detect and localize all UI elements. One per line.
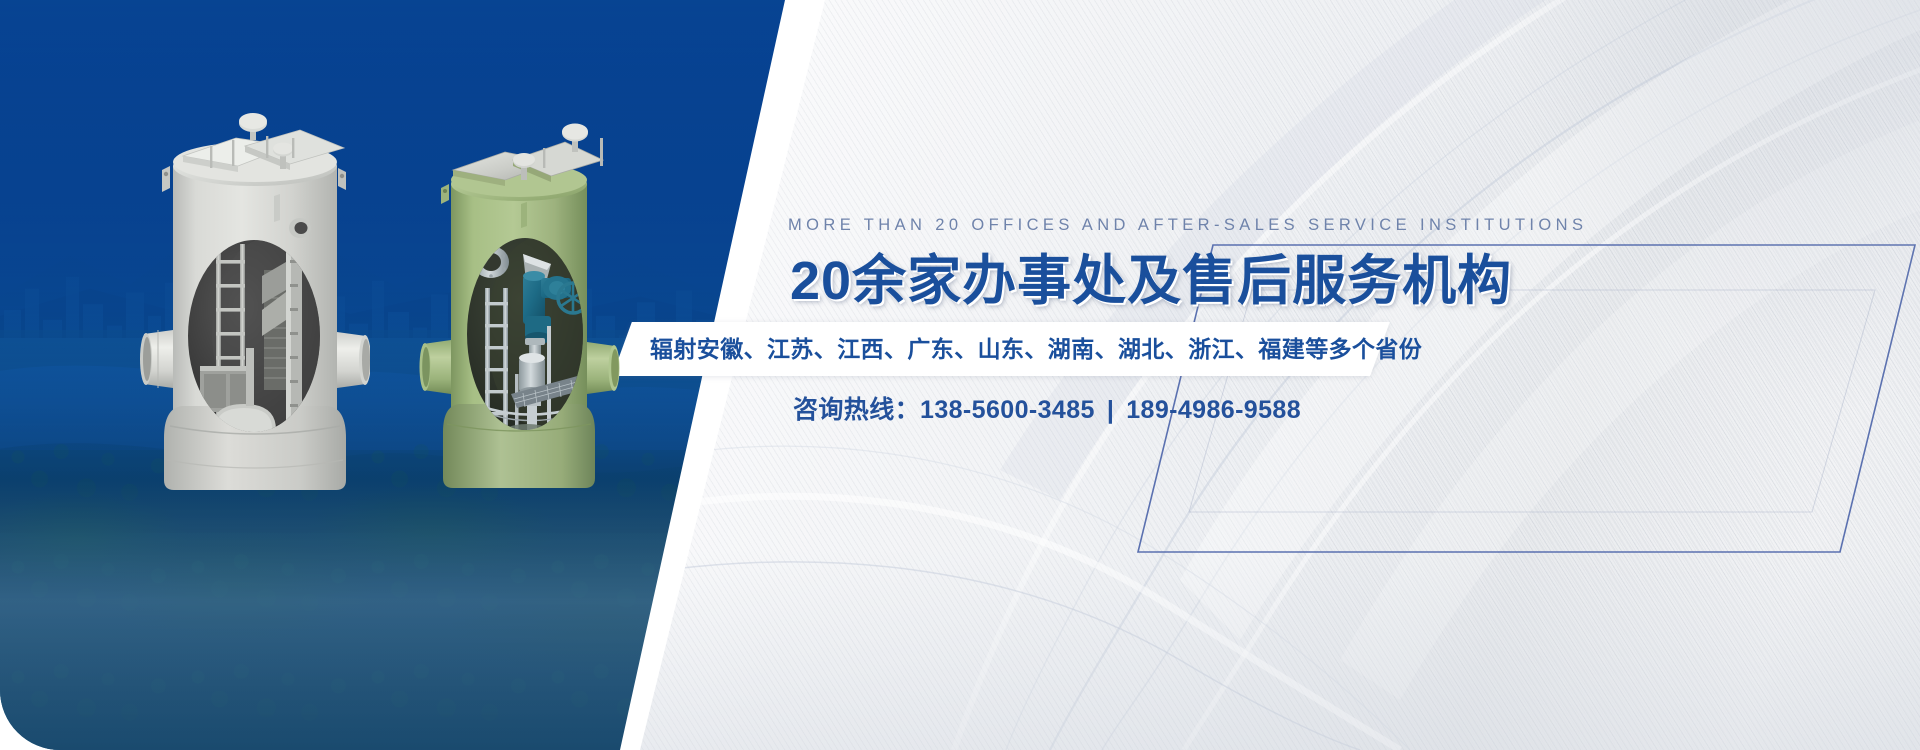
outlet-pipe-right <box>337 332 370 388</box>
hotline-label: 咨询热线： <box>793 396 920 424</box>
page-title: 20余家办事处及售后服务机构 <box>790 248 1512 314</box>
bottom-shadow <box>640 550 1920 750</box>
green-integrated-pump-station <box>415 112 620 498</box>
hotline-line: 咨询热线：138-5600-3485|189-4986-9588 <box>793 393 1301 427</box>
hotline-separator: | <box>1095 396 1126 424</box>
inlet-pipe-left <box>140 330 173 388</box>
lifting-lug-right <box>338 168 346 190</box>
hero-banner: MORE THAN 20 OFFICES AND AFTER-SALES SER… <box>0 0 1920 750</box>
shell-nozzle <box>289 218 311 238</box>
lifting-lug-left <box>441 184 449 204</box>
eyebrow-text: MORE THAN 20 OFFICES AND AFTER-SALES SER… <box>788 216 1587 235</box>
lifting-lug-left <box>162 166 170 192</box>
outlet-pipe-right <box>587 342 620 394</box>
vent-cap-large <box>239 113 267 140</box>
corner-shadow <box>1500 0 1920 420</box>
inlet-pipe-left <box>420 340 452 394</box>
hotline-primary-number[interactable]: 138-5600-3485 <box>920 396 1095 424</box>
hotline-secondary-number[interactable]: 189-4986-9588 <box>1126 396 1301 424</box>
grey-integrated-pump-station <box>140 108 370 498</box>
provinces-text: 辐射安徽、江苏、江西、广东、山东、湖南、湖北、浙江、福建等多个省份 <box>650 333 1422 365</box>
